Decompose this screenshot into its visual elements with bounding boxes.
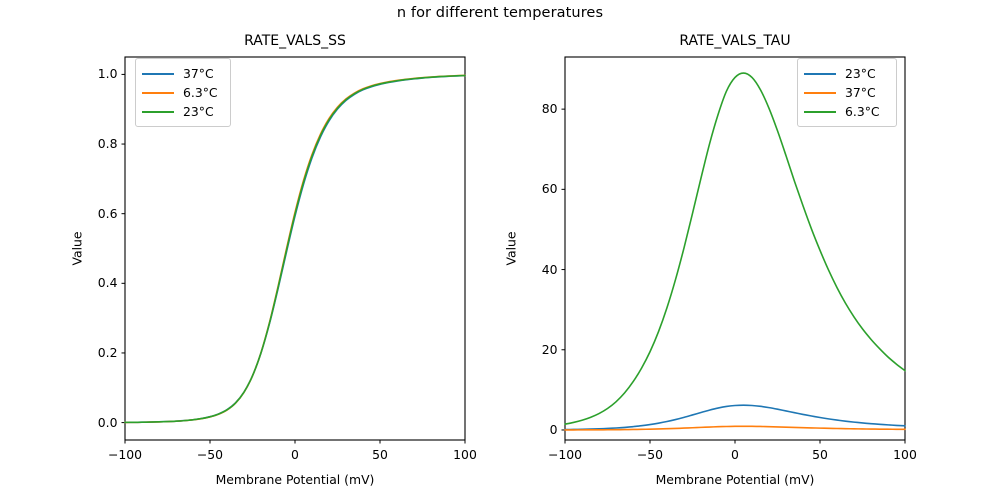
x-tick-label: 100 (435, 447, 495, 462)
y-tick-label: 0.8 (60, 136, 118, 151)
legend-label: 23°C (183, 104, 214, 119)
legend-line-swatch (804, 111, 836, 113)
x-tick-label: 100 (875, 447, 935, 462)
y-tick-label: 1.0 (60, 66, 118, 81)
left-axes-title: RATE_VALS_SS (125, 33, 465, 49)
left-xlabel: Membrane Potential (mV) (125, 472, 465, 487)
left-legend[interactable]: 37°C 6.3°C 23°C (135, 58, 231, 127)
legend-item[interactable]: 6.3°C (804, 102, 889, 121)
x-tick-label: 50 (350, 447, 410, 462)
right-axes-title: RATE_VALS_TAU (565, 33, 905, 49)
legend-item[interactable]: 37°C (804, 83, 889, 102)
legend-label: 6.3°C (845, 104, 880, 119)
right-legend[interactable]: 23°C 37°C 6.3°C (797, 58, 897, 127)
legend-line-swatch (142, 111, 174, 113)
y-tick-label: 40 (500, 262, 558, 277)
legend-item[interactable]: 23°C (142, 102, 223, 121)
series-line-37C (125, 76, 465, 423)
x-tick-label: −100 (95, 447, 155, 462)
y-tick-label: 0.6 (60, 206, 118, 221)
legend-line-swatch (804, 73, 836, 75)
legend-label: 6.3°C (183, 85, 218, 100)
y-tick-label: 0 (500, 422, 558, 437)
series-line-23C (565, 405, 905, 429)
legend-item[interactable]: 37°C (142, 64, 223, 83)
legend-label: 37°C (845, 85, 876, 100)
y-tick-label: 0.4 (60, 275, 118, 290)
x-tick-label: −50 (620, 447, 680, 462)
legend-item[interactable]: 23°C (804, 64, 889, 83)
right-xlabel: Membrane Potential (mV) (565, 472, 905, 487)
x-tick-label: −50 (180, 447, 240, 462)
y-tick-label: 60 (500, 181, 558, 196)
y-tick-label: 0.2 (60, 345, 118, 360)
y-tick-label: 80 (500, 101, 558, 116)
legend-item[interactable]: 6.3°C (142, 83, 223, 102)
x-tick-label: 50 (790, 447, 850, 462)
y-tick-label: 20 (500, 342, 558, 357)
figure-suptitle: n for different temperatures (0, 5, 1000, 21)
y-tick-label: 0.0 (60, 415, 118, 430)
series-line-37C (565, 426, 905, 430)
legend-line-swatch (804, 92, 836, 94)
x-tick-label: 0 (265, 447, 325, 462)
matplotlib-figure: n for different temperatures RATE_VALS_S… (0, 0, 1000, 500)
legend-label: 37°C (183, 66, 214, 81)
legend-line-swatch (142, 73, 174, 75)
series-line-23C (125, 76, 465, 423)
left-ylabel: Value (70, 219, 85, 279)
legend-line-swatch (142, 92, 174, 94)
legend-label: 23°C (845, 66, 876, 81)
x-tick-label: −100 (535, 447, 595, 462)
series-line-63C (125, 75, 465, 422)
x-tick-label: 0 (705, 447, 765, 462)
